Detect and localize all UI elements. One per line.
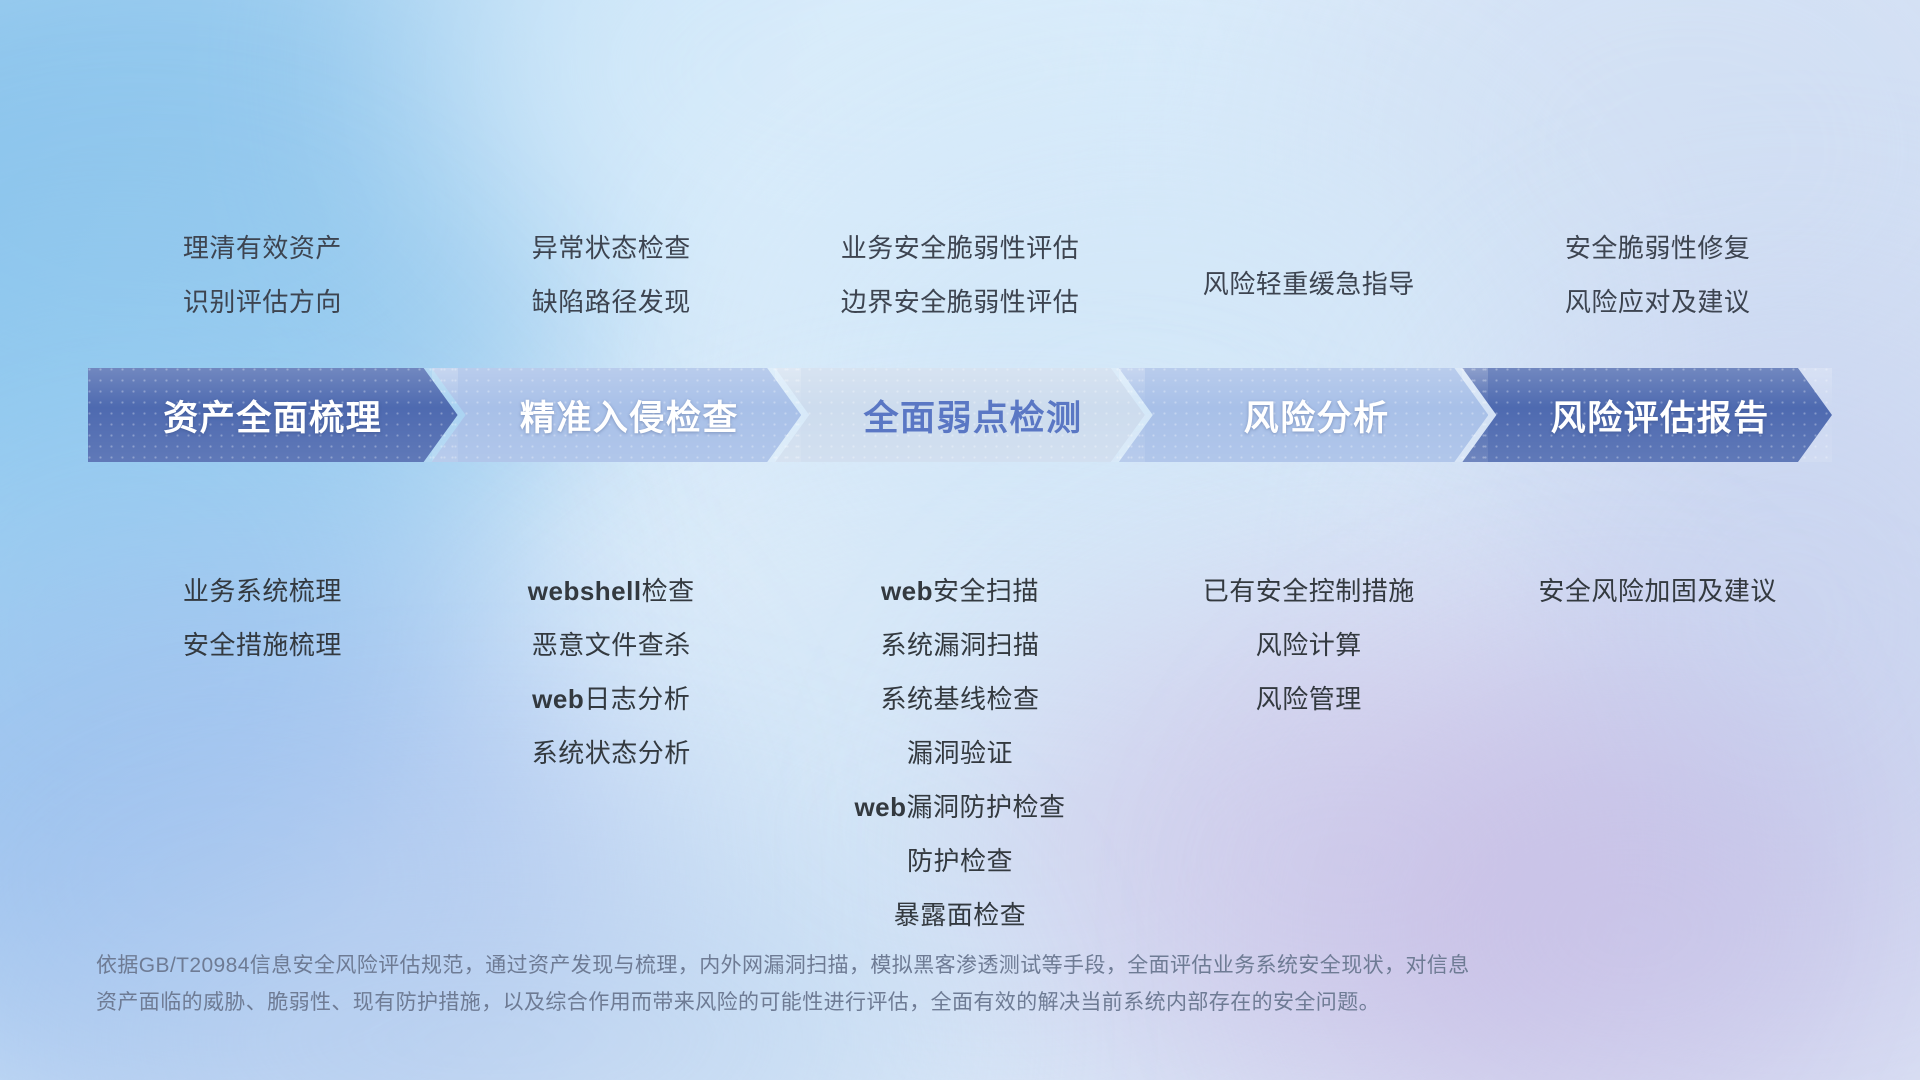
chevron-stage-asset-inventory[interactable]: 资产全面梳理 <box>88 368 458 462</box>
lower-item-text: 防护检查 <box>907 846 1013 876</box>
upper-column-risk-analysis: 风险轻重缓急指导 <box>1134 235 1483 343</box>
lower-item: 暴露面检查 <box>894 902 1027 928</box>
lower-item-text: 安全措施梳理 <box>183 630 342 660</box>
lower-item-text: 安全风险加固及建议 <box>1538 576 1777 606</box>
upper-column-weakness-detection: 业务安全脆弱性评估边界安全脆弱性评估 <box>786 235 1135 343</box>
lower-column-risk-analysis: 已有安全控制措施风险计算风险管理 <box>1134 578 1483 956</box>
lower-item-text: 检查 <box>642 576 695 606</box>
lower-item-text: 日志分析 <box>584 684 690 714</box>
lower-item: 安全措施梳理 <box>183 632 342 658</box>
lower-item: web安全扫描 <box>881 578 1039 604</box>
lower-item: 系统状态分析 <box>532 740 691 766</box>
lower-item-prefix: web <box>532 684 584 714</box>
lower-item-text: 系统基线检查 <box>880 684 1039 714</box>
lower-item: 风险计算 <box>1256 632 1362 658</box>
upper-item: 异常状态检查 <box>532 235 691 261</box>
upper-item: 理清有效资产 <box>183 235 342 261</box>
lower-items-row: 业务系统梳理安全措施梳理webshell检查恶意文件查杀web日志分析系统状态分… <box>88 578 1832 956</box>
lower-item: 系统漏洞扫描 <box>880 632 1039 658</box>
lower-item-text: 安全扫描 <box>933 576 1039 606</box>
lower-item: 系统基线检查 <box>880 686 1039 712</box>
lower-item: web日志分析 <box>532 686 690 712</box>
upper-column-intrusion-check: 异常状态检查缺陷路径发现 <box>437 235 786 343</box>
lower-item: 安全风险加固及建议 <box>1538 578 1777 604</box>
lower-item: 恶意文件查杀 <box>532 632 691 658</box>
footer-description: 依据GB/T20984信息安全风险评估规范，通过资产发现与梳理，内外网漏洞扫描，… <box>96 948 1776 1022</box>
chevron-stage-risk-report[interactable]: 风险评估报告 <box>1462 368 1832 462</box>
upper-item: 风险应对及建议 <box>1565 289 1751 315</box>
chevron-label-intrusion-check: 精准入侵检查 <box>494 390 739 441</box>
lower-column-risk-report: 安全风险加固及建议 <box>1483 578 1832 956</box>
lower-item: 风险管理 <box>1256 686 1362 712</box>
process-chevron-band: 资产全面梳理精准入侵检查全面弱点检测风险分析风险评估报告 <box>88 368 1832 462</box>
lower-item-prefix: web <box>854 792 906 822</box>
upper-item: 安全脆弱性修复 <box>1565 235 1751 261</box>
lower-item: web漏洞防护检查 <box>854 794 1065 820</box>
chevron-label-asset-inventory: 资产全面梳理 <box>163 390 382 441</box>
lower-item-text: 恶意文件查杀 <box>532 630 691 660</box>
lower-item: 已有安全控制措施 <box>1203 578 1415 604</box>
lower-item-text: 风险管理 <box>1256 684 1362 714</box>
upper-column-risk-report: 安全脆弱性修复风险应对及建议 <box>1483 235 1832 343</box>
chevron-stage-intrusion-check[interactable]: 精准入侵检查 <box>432 368 802 462</box>
lower-column-intrusion-check: webshell检查恶意文件查杀web日志分析系统状态分析 <box>437 578 786 956</box>
upper-item: 风险轻重缓急指导 <box>1203 271 1415 297</box>
lower-item-text: 业务系统梳理 <box>183 576 342 606</box>
lower-item: webshell检查 <box>528 578 695 604</box>
lower-item-prefix: web <box>881 576 933 606</box>
upper-items-row: 理清有效资产识别评估方向异常状态检查缺陷路径发现业务安全脆弱性评估边界安全脆弱性… <box>88 235 1832 343</box>
upper-item: 业务安全脆弱性评估 <box>841 235 1080 261</box>
chevron-label-weakness-detection: 全面弱点检测 <box>837 390 1082 441</box>
upper-item: 识别评估方向 <box>183 289 342 315</box>
chevron-stage-weakness-detection[interactable]: 全面弱点检测 <box>775 368 1145 462</box>
footer-line-2: 资产面临的威胁、脆弱性、现有防护措施，以及综合作用而带来风险的可能性进行评估，全… <box>96 985 1776 1022</box>
lower-item-text: 风险计算 <box>1256 630 1362 660</box>
lower-item: 漏洞验证 <box>907 740 1013 766</box>
lower-item-text: 漏洞防护检查 <box>907 792 1066 822</box>
chevron-label-risk-report: 风险评估报告 <box>1525 390 1770 441</box>
lower-item-text: 已有安全控制措施 <box>1203 576 1415 606</box>
lower-item-text: 暴露面检查 <box>894 900 1027 930</box>
chevron-label-risk-analysis: 风险分析 <box>1218 390 1390 441</box>
footer-line-1: 依据GB/T20984信息安全风险评估规范，通过资产发现与梳理，内外网漏洞扫描，… <box>96 948 1776 985</box>
upper-column-asset-inventory: 理清有效资产识别评估方向 <box>88 235 437 343</box>
lower-column-weakness-detection: web安全扫描系统漏洞扫描系统基线检查漏洞验证web漏洞防护检查防护检查暴露面检… <box>786 578 1135 956</box>
lower-item: 防护检查 <box>907 848 1013 874</box>
lower-item-text: 漏洞验证 <box>907 738 1013 768</box>
lower-item: 业务系统梳理 <box>183 578 342 604</box>
lower-item-prefix: webshell <box>528 576 642 606</box>
chevron-stage-risk-analysis[interactable]: 风险分析 <box>1119 368 1489 462</box>
lower-item-text: 系统状态分析 <box>532 738 691 768</box>
lower-item-text: 系统漏洞扫描 <box>880 630 1039 660</box>
upper-item: 边界安全脆弱性评估 <box>841 289 1080 315</box>
upper-item: 缺陷路径发现 <box>532 289 691 315</box>
lower-column-asset-inventory: 业务系统梳理安全措施梳理 <box>88 578 437 956</box>
